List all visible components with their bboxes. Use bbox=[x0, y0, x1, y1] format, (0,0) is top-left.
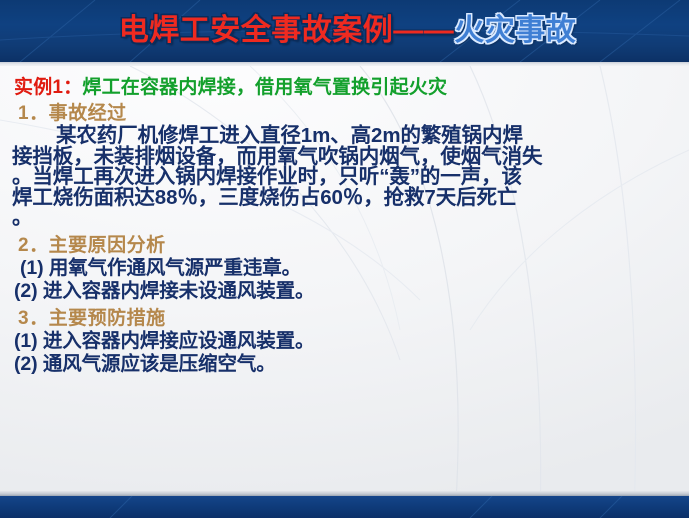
page-title-dash: —— bbox=[393, 16, 454, 46]
slide-title: 电焊工安全事故案例——火灾事故 bbox=[0, 0, 689, 62]
narrative-line-text: 。 bbox=[12, 206, 32, 229]
presentation-slide: 电焊工安全事故案例——火灾事故 实例1：焊工在容器内焊接，借用氧气置换引起火灾 … bbox=[0, 0, 689, 518]
page-title-red-part: 电焊工安全事故案例 bbox=[119, 16, 394, 46]
list-item: (2) 通风气源应该是压缩空气。 bbox=[14, 355, 679, 375]
slide-content: 实例1：焊工在容器内焊接，借用氧气置换引起火灾 1．事故经过 某农药厂机修焊工进… bbox=[0, 66, 689, 496]
narrative-line-text: 焊工烧伤面积达88％，三度烧伤占60％，抢救7天后死亡 bbox=[12, 186, 517, 209]
slide-header-band: 电焊工安全事故案例——火灾事故 bbox=[0, 0, 689, 62]
narrative-line: 焊工烧伤面积达88％，三度烧伤占60％，抢救7天后死亡 bbox=[12, 188, 679, 209]
example-label: 实例1： bbox=[14, 77, 82, 98]
section-heading-1: 1．事故经过 bbox=[18, 104, 679, 123]
section-heading-2: 2．主要原因分析 bbox=[18, 236, 679, 255]
list-item: (1) 进入容器内焊接应设通风装置。 bbox=[14, 332, 679, 352]
slide-footer-band bbox=[0, 496, 689, 518]
footer-diagonal-lines bbox=[0, 496, 689, 518]
section-heading-3: 3．主要预防措施 bbox=[18, 309, 679, 328]
narrative-line: 某农药厂机修焊工进入直径1m、高2m的繁殖锅内焊 bbox=[12, 126, 679, 147]
example-headline: 实例1：焊工在容器内焊接，借用氧气置换引起火灾 bbox=[14, 78, 679, 97]
list-item: (1) 用氧气作通风气源严重违章。 bbox=[20, 259, 679, 279]
accident-narrative: 某农药厂机修焊工进入直径1m、高2m的繁殖锅内焊 接挡板，未装排烟设备，而用氧气… bbox=[12, 126, 679, 229]
list-item: (2) 进入容器内焊接未设通风装置。 bbox=[14, 282, 679, 302]
narrative-line: 接挡板，未装排烟设备，而用氧气吹锅内烟气，使烟气消失 bbox=[12, 147, 679, 168]
narrative-line: 。 bbox=[12, 208, 679, 229]
example-text: 焊工在容器内焊接，借用氧气置换引起火灾 bbox=[82, 77, 447, 98]
narrative-line: 。当焊工再次进入锅内焊接作业时，只听“轰”的一声，该 bbox=[12, 167, 679, 188]
page-title-blue-part: 火灾事故 bbox=[454, 16, 576, 46]
